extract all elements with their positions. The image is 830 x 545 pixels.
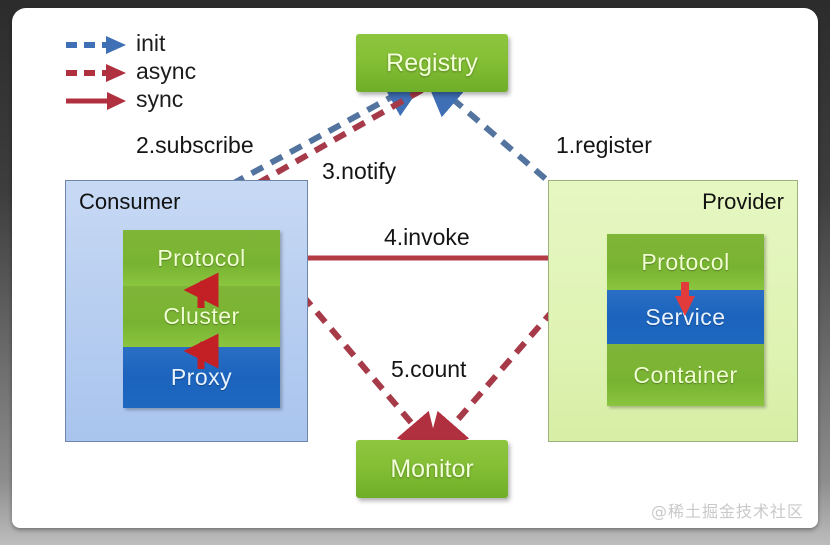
edge-label-invoke: 4.invoke bbox=[384, 224, 470, 251]
screenshot-frame: init async sync bbox=[0, 0, 830, 545]
provider-internal-arrow bbox=[607, 234, 764, 406]
diagram-canvas: init async sync bbox=[12, 8, 818, 528]
watermark: @稀土掘金技术社区 bbox=[651, 498, 804, 522]
legend-item-sync: sync bbox=[64, 88, 274, 116]
edge-label-subscribe: 2.subscribe bbox=[136, 132, 254, 159]
legend-item-async: async bbox=[64, 60, 274, 88]
solid-arrow-icon bbox=[64, 88, 128, 114]
consumer-title: Consumer bbox=[79, 189, 180, 215]
node-registry[interactable]: Registry bbox=[356, 34, 508, 92]
legend: init async sync bbox=[64, 32, 274, 116]
legend-label-async: async bbox=[136, 57, 196, 85]
legend-label-init: init bbox=[136, 29, 165, 57]
diagram-card: init async sync bbox=[12, 8, 818, 528]
node-monitor-label: Monitor bbox=[390, 455, 473, 484]
legend-label-sync: sync bbox=[136, 85, 183, 113]
provider-title: Provider bbox=[702, 189, 784, 215]
node-registry-label: Registry bbox=[386, 49, 478, 78]
dashed-arrow-icon bbox=[64, 60, 128, 86]
node-monitor[interactable]: Monitor bbox=[356, 440, 508, 498]
edge-label-register: 1.register bbox=[556, 132, 652, 159]
dashed-arrow-icon bbox=[64, 32, 128, 58]
edge-label-count: 5.count bbox=[391, 356, 466, 383]
consumer-internal-arrows bbox=[123, 230, 280, 408]
edge-label-notify: 3.notify bbox=[322, 158, 396, 185]
legend-item-init: init bbox=[64, 32, 274, 60]
